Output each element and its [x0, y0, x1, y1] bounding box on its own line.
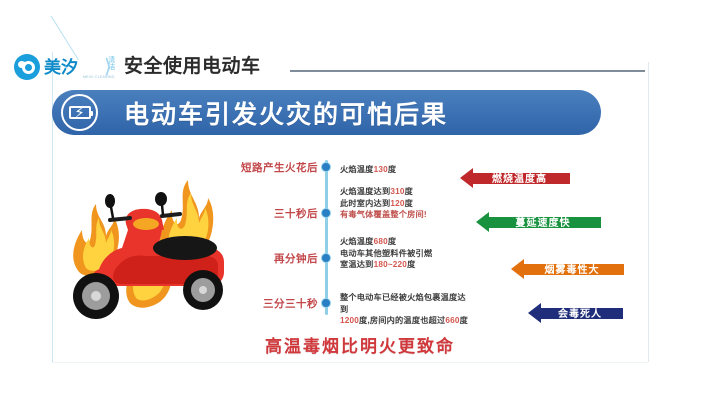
banner-title: 电动车引发火灾的可怕后果	[124, 95, 448, 131]
consequence-label-bg-2: 蔓延速度快	[489, 217, 601, 228]
arrow-head-icon-3	[511, 259, 524, 279]
stage-detail-2: 火焰温度达到310度 此时室内达到120度 有毒气体覆盖整个房间!	[340, 186, 470, 221]
detail-unit-1-0: 度	[388, 165, 396, 174]
detail-text-3-1: 电动车其他塑料件被引燃	[340, 248, 470, 260]
detail-unit-2-0: 度	[405, 187, 413, 196]
timeline-dot-2	[321, 208, 331, 218]
footer-slogan: 高温毒烟比明火更致命	[0, 332, 720, 357]
burning-electric-scooter-illustration	[58, 168, 233, 323]
consequence-label-1: 燃烧温度高	[492, 170, 547, 185]
detail-unit-4-1: 度,房间内的温度也超过	[359, 316, 445, 325]
timeline-stage-label-1: 短路产生火花后	[218, 162, 318, 175]
brand-logo: 美汐 清洁 MEIXI CLEANING	[14, 54, 115, 80]
detail-text-2-1: 此时室内达到	[340, 199, 390, 208]
detail-text-2-2: 有毒气体覆盖整个房间!	[340, 209, 470, 221]
battery-bolt-icon: ⚡	[61, 94, 98, 131]
consequence-arrow-2: 蔓延速度快	[476, 212, 601, 232]
detail-value-1-0: 130	[374, 165, 388, 174]
timeline-stage-label-4: 三分三十秒	[218, 298, 318, 311]
consequence-arrow-1: 燃烧温度高	[460, 168, 570, 188]
detail-text-2-0: 火焰温度达到	[340, 187, 390, 196]
timeline-dot-3	[321, 253, 331, 263]
chevron-right-icon: ⟩	[104, 54, 112, 80]
detail-unit-3-2: 度	[407, 260, 415, 269]
detail-text-3-0: 火焰温度	[340, 237, 374, 246]
timeline-stage-label-3: 再分钟后	[218, 253, 318, 266]
detail-value-3-2: 180~220	[374, 260, 408, 269]
consequence-arrow-4: 会毒死人	[528, 303, 623, 323]
consequence-label-bg-4: 会毒死人	[541, 308, 623, 319]
detail-value-2-1: 120	[390, 199, 404, 208]
arrow-head-icon-2	[476, 212, 489, 232]
brand-name-cn: 美汐	[44, 59, 78, 76]
detail-unit-2-1: 度	[405, 199, 413, 208]
section-banner: ⚡ 电动车引发火灾的可怕后果	[52, 90, 601, 135]
detail-unit2-4-1: 度	[460, 316, 468, 325]
detail-value2-4-1: 660	[445, 316, 459, 325]
detail-text-4-0: 整个电动车已经被火焰包裹温度达到	[340, 292, 470, 315]
arrow-head-icon-1	[460, 168, 473, 188]
consequence-label-bg-1: 燃烧温度高	[473, 173, 570, 184]
frame-line-left	[52, 52, 53, 362]
consequence-label-3: 烟雾毒性大	[545, 261, 600, 276]
consequence-label-2: 蔓延速度快	[516, 214, 571, 229]
timeline-dot-4	[321, 298, 331, 308]
water-drop-circle-icon	[14, 54, 40, 80]
stage-detail-3: 火焰温度680度 电动车其他塑料件被引燃 室温达到180~220度	[340, 236, 470, 271]
stage-detail-1: 火焰温度130度	[340, 164, 470, 176]
stage-detail-4: 整个电动车已经被火焰包裹温度达到 1200度,房间内的温度也超过660度	[340, 292, 470, 327]
timeline-axis	[325, 160, 328, 315]
detail-text-1-0: 火焰温度	[340, 165, 374, 174]
consequence-arrow-3: 烟雾毒性大	[511, 259, 624, 279]
detail-unit-3-0: 度	[388, 237, 396, 246]
slide-canvas: 美汐 清洁 MEIXI CLEANING ⟩ 安全使用电动车 ⚡ 电动车引发火灾…	[0, 0, 720, 405]
consequence-label-bg-3: 烟雾毒性大	[524, 264, 624, 275]
title-underline-rule	[290, 70, 645, 72]
page-title: 安全使用电动车	[124, 54, 261, 80]
consequence-label-4: 会毒死人	[558, 305, 602, 320]
frame-line-bottom	[52, 362, 648, 363]
detail-value-2-0: 310	[390, 187, 404, 196]
timeline-dot-1	[321, 162, 331, 172]
frame-line-right	[648, 62, 649, 362]
timeline-stage-label-2: 三十秒后	[218, 208, 318, 221]
slide-header: 美汐 清洁 MEIXI CLEANING ⟩ 安全使用电动车	[0, 24, 720, 68]
detail-text-3-2: 室温达到	[340, 260, 374, 269]
arrow-head-icon-4	[528, 303, 541, 323]
detail-value-3-0: 680	[374, 237, 388, 246]
detail-value-4-1: 1200	[340, 316, 359, 325]
